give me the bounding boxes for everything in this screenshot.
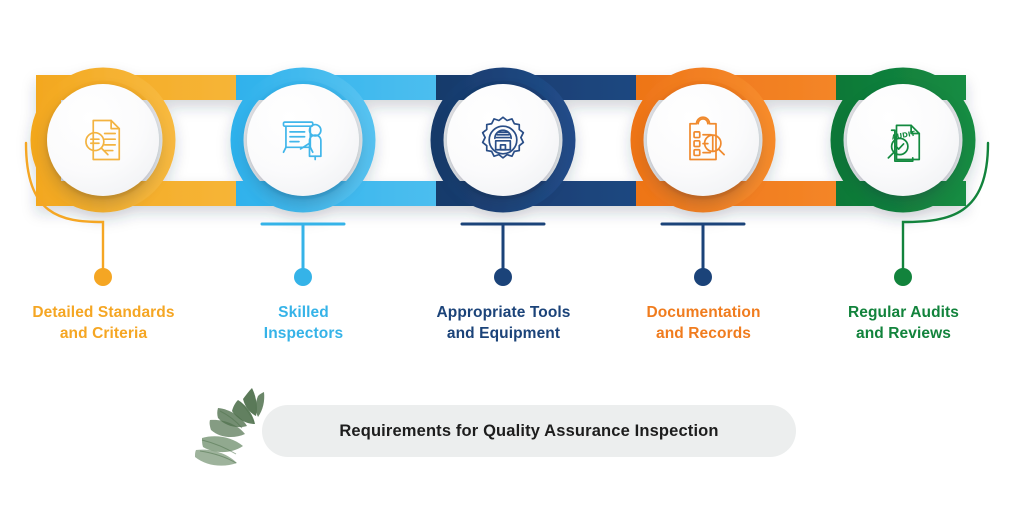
- connector-dot-5: [894, 268, 912, 286]
- step-node-1[interactable]: [47, 84, 159, 196]
- audit-document-magnifier-icon: AUDIT: [847, 84, 959, 196]
- step-caption-1: Detailed Standards and Criteria: [0, 302, 207, 344]
- step-node-3[interactable]: [447, 84, 559, 196]
- step-node-5[interactable]: AUDIT: [847, 84, 959, 196]
- clipboard-checklist-magnifier-icon: [647, 84, 759, 196]
- infographic-canvas: AUDIT Detailed Standards and Criteria Sk…: [0, 0, 1014, 513]
- connector-4: [662, 224, 744, 270]
- step-caption-5: Regular Audits and Reviews: [800, 302, 1007, 344]
- step-caption-3: Appropriate Tools and Equipment: [400, 302, 607, 344]
- document-magnifier-icon: [47, 84, 159, 196]
- connector-dot-1: [94, 268, 112, 286]
- connector-3: [462, 224, 544, 270]
- title-banner: Requirements for Quality Assurance Inspe…: [262, 405, 796, 457]
- step-caption-4: Documentation and Records: [600, 302, 807, 344]
- step-node-4[interactable]: [647, 84, 759, 196]
- connector-dot-4: [694, 268, 712, 286]
- presenter-whiteboard-icon: [247, 84, 359, 196]
- connector-2: [262, 224, 344, 270]
- step-caption-2: Skilled Inspectors: [200, 302, 407, 344]
- gear-factory-icon: [447, 84, 559, 196]
- connector-dot-3: [494, 268, 512, 286]
- connector-dot-2: [294, 268, 312, 286]
- step-node-2[interactable]: [247, 84, 359, 196]
- banner-title: Requirements for Quality Assurance Inspe…: [339, 422, 718, 441]
